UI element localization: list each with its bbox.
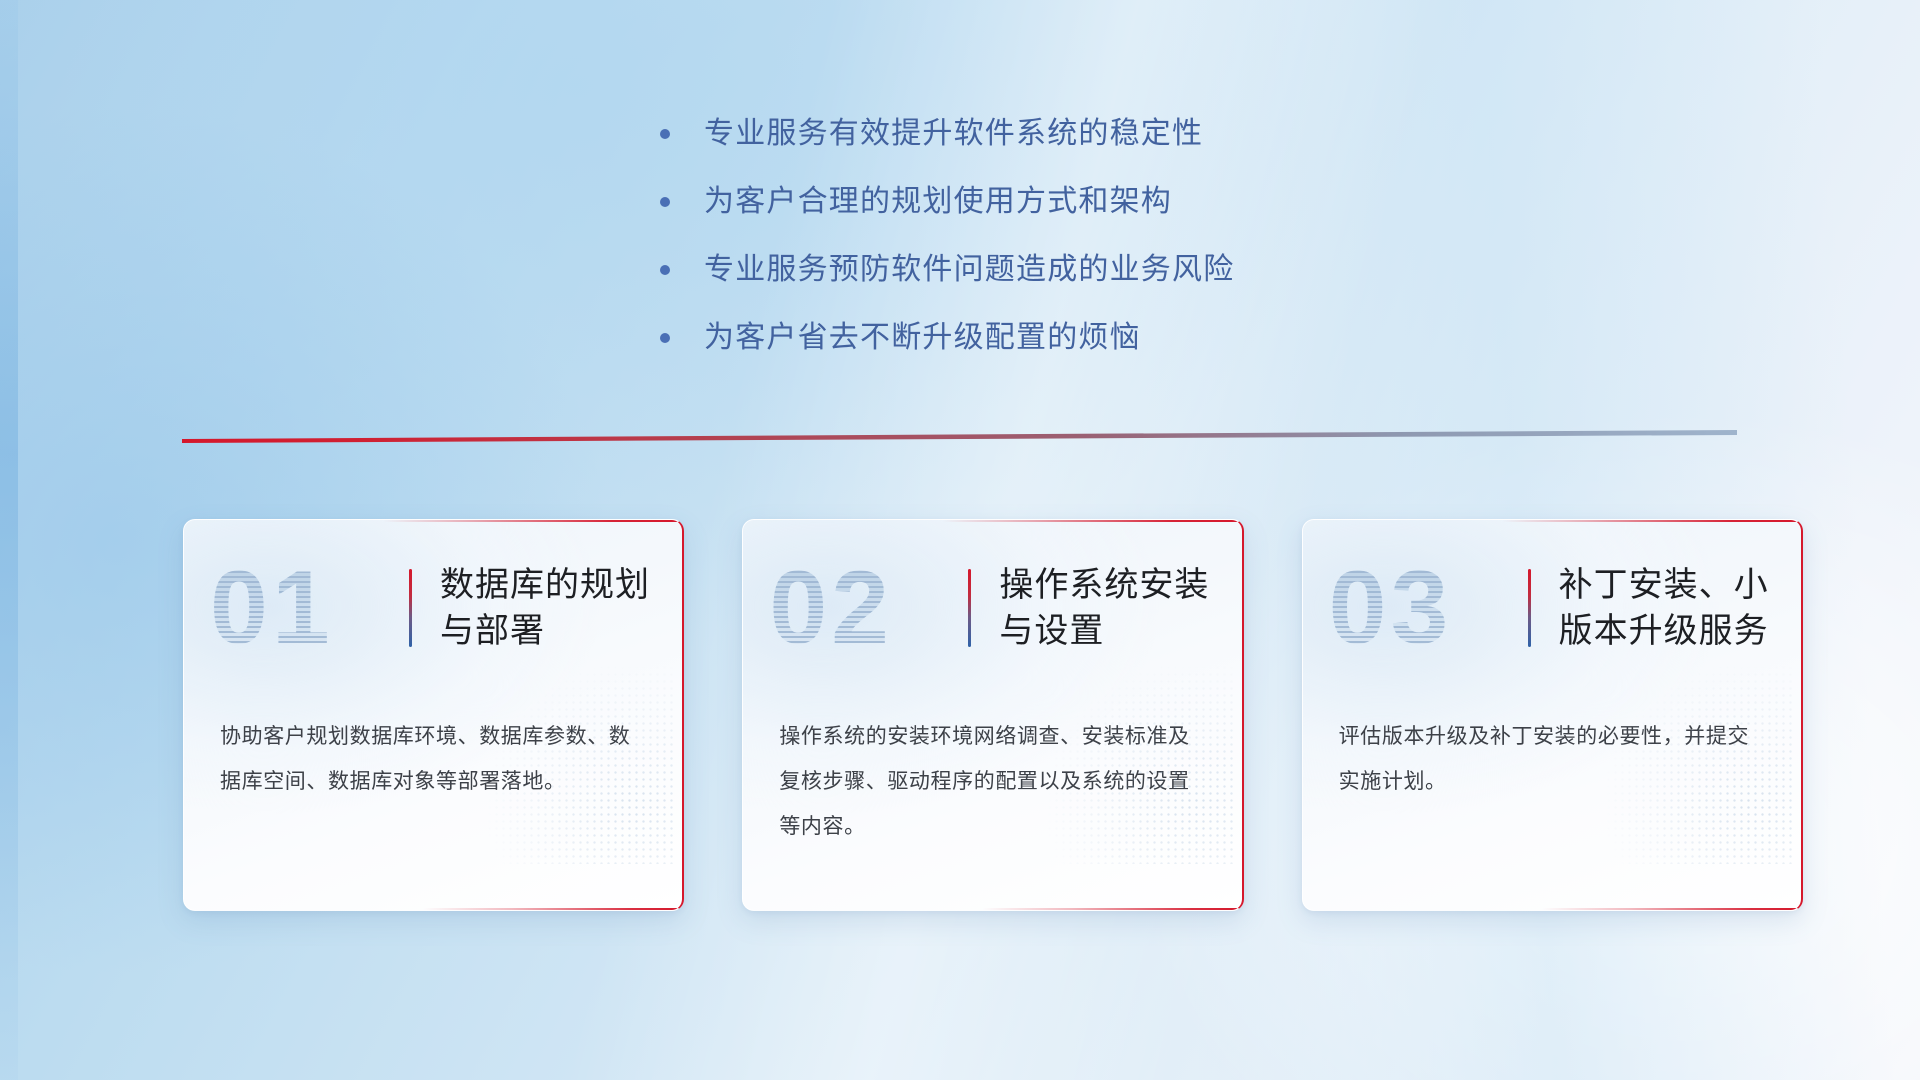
card-row: 01 数据库的规划与部署 协助客户规划数据库环境、数据库参数、数据库空间、数据库… (183, 519, 1803, 919)
card-title: 补丁安装、小版本升级服务 (1559, 562, 1771, 654)
card-number: 01 (210, 556, 405, 660)
bullet-text: 为客户省去不断升级配置的烦恼 (704, 316, 1141, 360)
card-body-text: 协助客户规划数据库环境、数据库参数、数据库空间、数据库对象等部署落地。 (184, 670, 682, 804)
bullet-text: 专业服务有效提升软件系统的稳定性 (704, 112, 1203, 156)
bullet-text: 专业服务预防软件问题造成的业务风险 (704, 248, 1234, 292)
bullet-dot-icon (660, 333, 670, 343)
bullet-list: 专业服务有效提升软件系统的稳定性 为客户合理的规划使用方式和架构 专业服务预防软… (660, 112, 1420, 384)
list-item: 为客户省去不断升级配置的烦恼 (660, 316, 1420, 360)
card-body-text: 操作系统的安装环境网络调查、安装标准及复核步骤、驱动程序的配置以及系统的设置等内… (743, 670, 1241, 849)
card-divider-rule (409, 569, 412, 647)
bullet-text: 为客户合理的规划使用方式和架构 (704, 180, 1172, 224)
list-item: 专业服务预防软件问题造成的业务风险 (660, 248, 1420, 292)
slide-canvas: 专业服务有效提升软件系统的稳定性 为客户合理的规划使用方式和架构 专业服务预防软… (0, 0, 1920, 1080)
service-card-03[interactable]: 03 补丁安装、小版本升级服务 评估版本升级及补丁安装的必要性，并提交实施计划。 (1302, 519, 1803, 911)
bullet-dot-icon (660, 197, 670, 207)
card-body-text: 评估版本升级及补丁安装的必要性，并提交实施计划。 (1303, 670, 1801, 804)
card-bottom-accent (184, 908, 682, 910)
card-number: 02 (769, 556, 964, 660)
card-header: 02 操作系统安装与设置 (743, 520, 1241, 670)
card-header: 01 数据库的规划与部署 (184, 520, 682, 670)
card-bottom-accent (1303, 908, 1801, 910)
section-divider (182, 430, 1737, 444)
card-divider-rule (968, 569, 971, 647)
bullet-dot-icon (660, 129, 670, 139)
card-title: 数据库的规划与部署 (440, 562, 652, 654)
divider-shape-icon (182, 430, 1737, 444)
bullet-dot-icon (660, 265, 670, 275)
list-item: 专业服务有效提升软件系统的稳定性 (660, 112, 1420, 156)
service-card-02[interactable]: 02 操作系统安装与设置 操作系统的安装环境网络调查、安装标准及复核步骤、驱动程… (742, 519, 1243, 911)
card-number: 03 (1329, 556, 1524, 660)
card-bottom-accent (743, 908, 1241, 910)
list-item: 为客户合理的规划使用方式和架构 (660, 180, 1420, 224)
card-divider-rule (1528, 569, 1531, 647)
card-header: 03 补丁安装、小版本升级服务 (1303, 520, 1801, 670)
service-card-01[interactable]: 01 数据库的规划与部署 协助客户规划数据库环境、数据库参数、数据库空间、数据库… (183, 519, 684, 911)
card-title: 操作系统安装与设置 (999, 562, 1211, 654)
